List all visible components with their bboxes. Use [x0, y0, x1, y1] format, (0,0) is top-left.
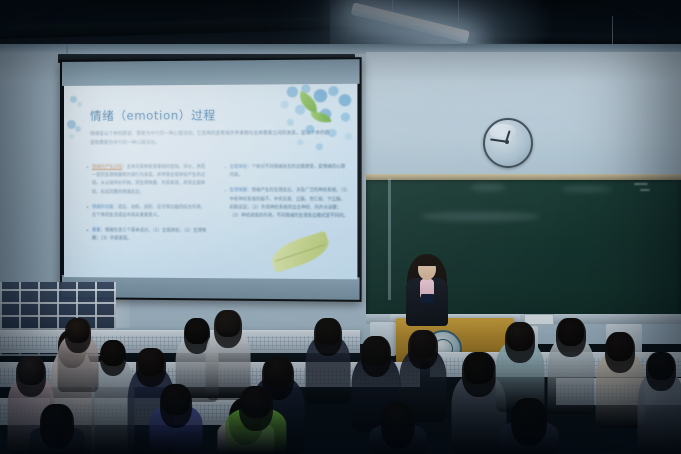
student-head — [464, 352, 494, 384]
presentation-slide: 情绪（emotion）过程 情绪是以个体的愿望、需要为中介的一种心理活动，它反映… — [64, 84, 357, 280]
bullet-dot-icon: • — [86, 204, 89, 220]
student-head — [607, 332, 634, 361]
bullet-text: 情绪的产生过程：主体对某种客观事物的感知、评价，进而一定的生理唤醒和外部行为表现… — [92, 164, 208, 197]
classroom-photo: 情绪（emotion）过程 情绪是以个体的愿望、需要为中介的一种心理活动，它反映… — [0, 0, 681, 454]
bullet-text: 主观体验：个体对不同情绪状态的自我感受，是情绪的心理内容。 — [230, 164, 349, 181]
light-hanger-right — [458, 0, 459, 22]
student-head — [410, 330, 436, 358]
wall-clock — [483, 118, 533, 168]
slide-right-column: – 主观体验：个体对不同情绪状态的自我感受，是情绪的心理内容。 – 生理唤醒：情… — [224, 164, 348, 229]
projector-screen: 情绪（emotion）过程 情绪是以个体的愿望、需要为中介的一种心理活动，它反映… — [60, 57, 362, 302]
bullet-body: ：个体对不同情绪状态的自我感受，是情绪的心理内容。 — [230, 165, 346, 179]
student-row2-4 — [150, 384, 202, 454]
student-center-2 — [306, 318, 350, 404]
student-head — [138, 348, 164, 376]
student-row4-mid — [370, 402, 426, 454]
bullet-keyword: 生理唤醒 — [230, 189, 248, 194]
light-hanger-left — [392, 0, 393, 12]
slide-lead-paragraph: 情绪是以个体的愿望、需要为中介的一种心理活动，它反映的是客观外界事物与主体需要之… — [90, 129, 330, 148]
slide-bullet: – 主观体验：个体对不同情绪状态的自我感受，是情绪的心理内容。 — [224, 164, 348, 181]
bullet-text: 要素：情绪包含三个基本成分，（1）主观体验；（2）生理唤醒；（3）外部表现。 — [92, 227, 208, 244]
slide-bullet: • 情绪的功能：适应、动机、组织、信号等功能的综合作用，在个体的生活适应中具有重… — [86, 204, 207, 221]
student-head — [67, 318, 90, 343]
chalk-mark-2 — [640, 189, 650, 191]
student-head — [264, 356, 293, 387]
blackboard-divider — [388, 178, 391, 300]
screen-dead-area-top — [62, 59, 360, 86]
presenter-badge — [421, 294, 434, 303]
left-wall-panel — [0, 44, 68, 284]
bullet-keyword: 情绪的产生过程 — [92, 165, 122, 170]
student-front-left — [30, 404, 84, 454]
clock-minute-hand — [490, 139, 506, 143]
clock-center-pin — [505, 140, 509, 144]
student-head — [18, 356, 45, 385]
chalk-mark-1 — [634, 183, 648, 185]
student-head — [363, 336, 390, 365]
blackboard-top-rail — [366, 174, 681, 180]
presenter-fringe — [416, 256, 438, 266]
slide-title: 情绪（emotion）过程 — [90, 107, 216, 124]
presenter — [403, 252, 451, 324]
bullet-body: ：情绪产生的生理反应，涉及广泛的神经系统，（1）中枢神经系统的脑干、中央灰质、丘… — [230, 189, 348, 219]
student-head — [216, 310, 241, 337]
bullet-dot-icon: • — [86, 227, 89, 243]
student-head — [316, 318, 341, 345]
blackboard-smudge-3 — [420, 212, 540, 221]
floral-decoration-right — [256, 84, 356, 160]
student-head — [648, 352, 674, 380]
student-head — [162, 384, 191, 415]
bullet-body: ：情绪包含三个基本成分，（1）主观体验；（2）生理唤醒；（3）外部表现。 — [92, 228, 206, 241]
slide-bullet: • 情绪的产生过程：主体对某种客观事物的感知、评价，进而一定的生理唤醒和外部行为… — [86, 164, 207, 197]
student-far-right — [638, 352, 681, 454]
student-head — [241, 386, 271, 418]
blackboard-smudge-2 — [560, 186, 612, 192]
slide-left-column: • 情绪的产生过程：主体对某种客观事物的感知、评价，进而一定的生理唤醒和外部行为… — [86, 164, 207, 252]
bullet-dash-icon: – — [224, 188, 227, 221]
bullet-dash-icon: – — [224, 164, 227, 181]
bullet-keyword: 要素 — [92, 228, 101, 233]
student-head — [383, 402, 414, 435]
student-head — [513, 398, 545, 433]
bullet-keyword: 情绪的功能 — [92, 205, 114, 210]
student-head — [507, 322, 534, 351]
student-front-green — [226, 386, 286, 454]
student-head — [42, 404, 72, 436]
bullet-text: 生理唤醒：情绪产生的生理反应，涉及广泛的神经系统，（1）中枢神经系统的脑干、中央… — [230, 188, 349, 222]
blackboard-smudge-1 — [470, 184, 506, 191]
bullet-text: 情绪的功能：适应、动机、组织、信号等功能的综合作用，在个体的生活适应中具有重要意… — [92, 204, 208, 221]
student-front-right — [500, 398, 558, 454]
student-head — [558, 318, 584, 346]
student-mid-left-1 — [58, 318, 98, 392]
student-head — [101, 340, 125, 366]
bullet-dot-icon: • — [86, 164, 89, 197]
clock-glare — [490, 124, 516, 138]
bullet-keyword: 主观体验 — [230, 165, 248, 170]
slide-bullet: • 要素：情绪包含三个基本成分，（1）主观体验；（2）生理唤醒；（3）外部表现。 — [86, 227, 207, 244]
slide-bullet: – 生理唤醒：情绪产生的生理反应，涉及广泛的神经系统，（1）中枢神经系统的脑干、… — [224, 188, 348, 222]
